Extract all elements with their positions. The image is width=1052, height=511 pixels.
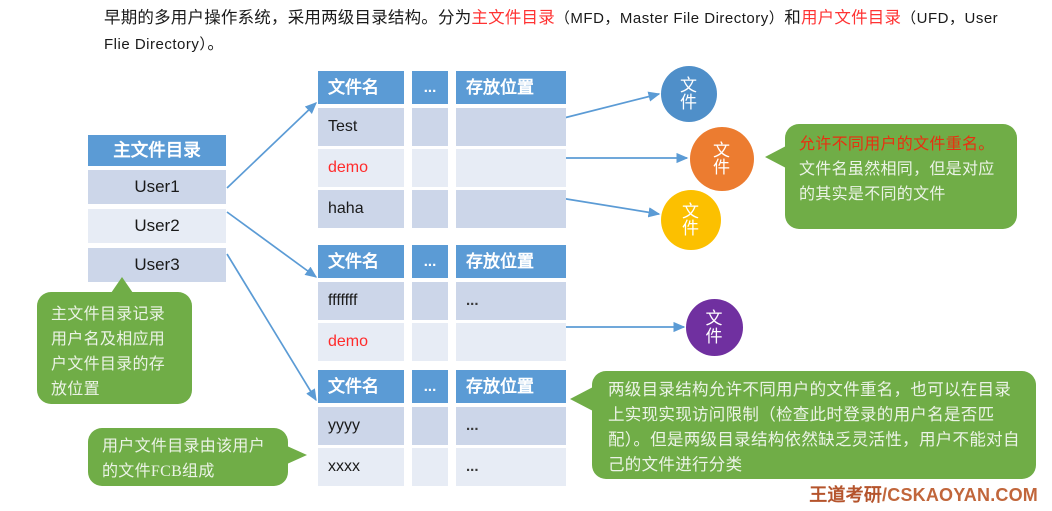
ufd1-cell-loc-0[interactable] [456,108,566,146]
ufd3-row-1[interactable]: xxxx ... [318,448,566,486]
ufd3-header-row: 文件名 ... 存放位置 [318,370,566,403]
mfd-row-user2[interactable]: User2 [88,209,226,243]
ufd1-cell-dots-2[interactable] [412,190,448,228]
callout-summary: 两级目录结构允许不同用户的文件重名，也可以在目录上实现实现访问限制（检查此时登录… [592,371,1036,479]
file-node-purple[interactable]: 文 件 [686,299,743,356]
ufd3-cell-name-0[interactable]: yyyy [318,407,404,445]
ufd2-cell-dots-0[interactable] [412,282,448,320]
callout-ufd-note-text: 用户文件目录由该用户的文件FCB组成 [102,438,265,480]
intro-seg-1: 早期的多用户操作系统，采用两级目录结构。分为 [104,8,471,27]
ufd1-row-0[interactable]: Test [318,108,566,146]
ufd2-header-dots: ... [412,245,448,278]
ufd2-header-row: 文件名 ... 存放位置 [318,245,566,278]
ufd2-cell-loc-0[interactable]: ... [456,282,566,320]
ufd3-cell-loc-0[interactable]: ... [456,407,566,445]
intro-paren-mfd: （MFD，Master File Directory） [555,10,784,27]
master-file-directory-table[interactable]: 主文件目录 User1 User2 User3 [88,135,226,282]
mfd-cell-user3[interactable]: User3 [88,248,226,282]
slide-canvas: 早期的多用户操作系统，采用两级目录结构。分为主文件目录（MFD，Master F… [0,0,1052,511]
callout-summary-text: 两级目录结构允许不同用户的文件重名，也可以在目录上实现实现访问限制（检查此时登录… [608,380,1020,474]
ufd2-row-1[interactable]: demo [318,323,566,361]
ufd2-cell-loc-1[interactable] [456,323,566,361]
callout-mfd-note-text: 主文件目录记录用户名及相应用户文件目录的存放位置 [51,306,165,398]
ufd3-row-0[interactable]: yyyy ... [318,407,566,445]
ufd1-cell-name-2[interactable]: haha [318,190,404,228]
ufd1-header-location: 存放位置 [456,71,566,104]
file-node-yellow-line1: 文 [682,203,700,220]
ufd1-row-2[interactable]: haha [318,190,566,228]
file-node-orange[interactable]: 文 件 [690,127,754,191]
user-file-directory-table-1[interactable]: 文件名 ... 存放位置 Test demo haha [318,71,566,228]
callout-duplicate-name-red: 允许不同用户的文件重名。 [799,136,995,153]
ufd2-cell-name-0[interactable]: fffffff [318,282,404,320]
ufd1-cell-name-0[interactable]: Test [318,108,404,146]
ufd3-header-location: 存放位置 [456,370,566,403]
mfd-cell-user1[interactable]: User1 [88,170,226,204]
ufd3-header-filename: 文件名 [318,370,404,403]
callout-duplicate-name-rest: 文件名虽然相同，但是对应的其实是不同的文件 [799,161,995,203]
ufd1-header-dots: ... [412,71,448,104]
ufd2-cell-name-1[interactable]: demo [318,323,404,361]
ufd1-cell-dots-0[interactable] [412,108,448,146]
watermark: 王道考研/CSKAOYAN.COM [809,481,1038,507]
ufd1-row-1[interactable]: demo [318,149,566,187]
ufd1-cell-loc-2[interactable] [456,190,566,228]
ufd3-cell-dots-0[interactable] [412,407,448,445]
ufd3-cell-dots-1[interactable] [412,448,448,486]
callout-ufd-note: 用户文件目录由该用户的文件FCB组成 [88,428,288,486]
mfd-row-user3[interactable]: User3 [88,248,226,282]
intro-seg-2: 和 [784,8,801,27]
callout-duplicate-name-tail [765,146,786,168]
mfd-header-cell: 主文件目录 [88,135,226,166]
ufd3-cell-name-1[interactable]: xxxx [318,448,404,486]
ufd2-cell-dots-1[interactable] [412,323,448,361]
watermark-url: /CSKAOYAN.COM [882,485,1038,505]
file-node-yellow-line2: 件 [682,220,700,237]
callout-mfd-note: 主文件目录记录用户名及相应用户文件目录的存放位置 [37,292,192,404]
callout-duplicate-name: 允许不同用户的文件重名。文件名虽然相同，但是对应的其实是不同的文件 [785,124,1017,229]
ufd2-header-filename: 文件名 [318,245,404,278]
file-node-orange-line1: 文 [713,142,731,159]
intro-highlight-mfd: 主文件目录 [471,8,555,27]
mfd-header-row: 主文件目录 [88,135,226,166]
ufd3-header-dots: ... [412,370,448,403]
callout-mfd-note-tail [111,277,133,293]
intro-seg-3: 。 [207,34,224,53]
ufd3-cell-loc-1[interactable]: ... [456,448,566,486]
file-node-purple-line2: 件 [706,328,724,345]
ufd1-cell-name-1[interactable]: demo [318,149,404,187]
file-node-blue-line1: 文 [680,77,698,94]
mfd-row-user1[interactable]: User1 [88,170,226,204]
ufd1-cell-loc-1[interactable] [456,149,566,187]
file-node-orange-line2: 件 [713,159,731,176]
mfd-cell-user2[interactable]: User2 [88,209,226,243]
watermark-cn: 王道考研 [809,485,882,505]
file-node-blue[interactable]: 文 件 [661,66,717,122]
user-file-directory-table-3[interactable]: 文件名 ... 存放位置 yyyy ... xxxx ... [318,370,566,486]
ufd1-cell-dots-1[interactable] [412,149,448,187]
ufd1-header-filename: 文件名 [318,71,404,104]
callout-ufd-note-tail [287,446,307,464]
ufd1-header-row: 文件名 ... 存放位置 [318,71,566,104]
user-file-directory-table-2[interactable]: 文件名 ... 存放位置 fffffff ... demo [318,245,566,361]
file-node-yellow[interactable]: 文 件 [661,190,721,250]
file-node-blue-line2: 件 [680,94,698,111]
intro-highlight-ufd: 用户文件目录 [801,8,901,27]
callout-summary-tail [570,387,593,411]
ufd2-row-0[interactable]: fffffff ... [318,282,566,320]
intro-paragraph: 早期的多用户操作系统，采用两级目录结构。分为主文件目录（MFD，Master F… [104,5,1024,57]
file-node-purple-line1: 文 [706,310,724,327]
ufd2-header-location: 存放位置 [456,245,566,278]
